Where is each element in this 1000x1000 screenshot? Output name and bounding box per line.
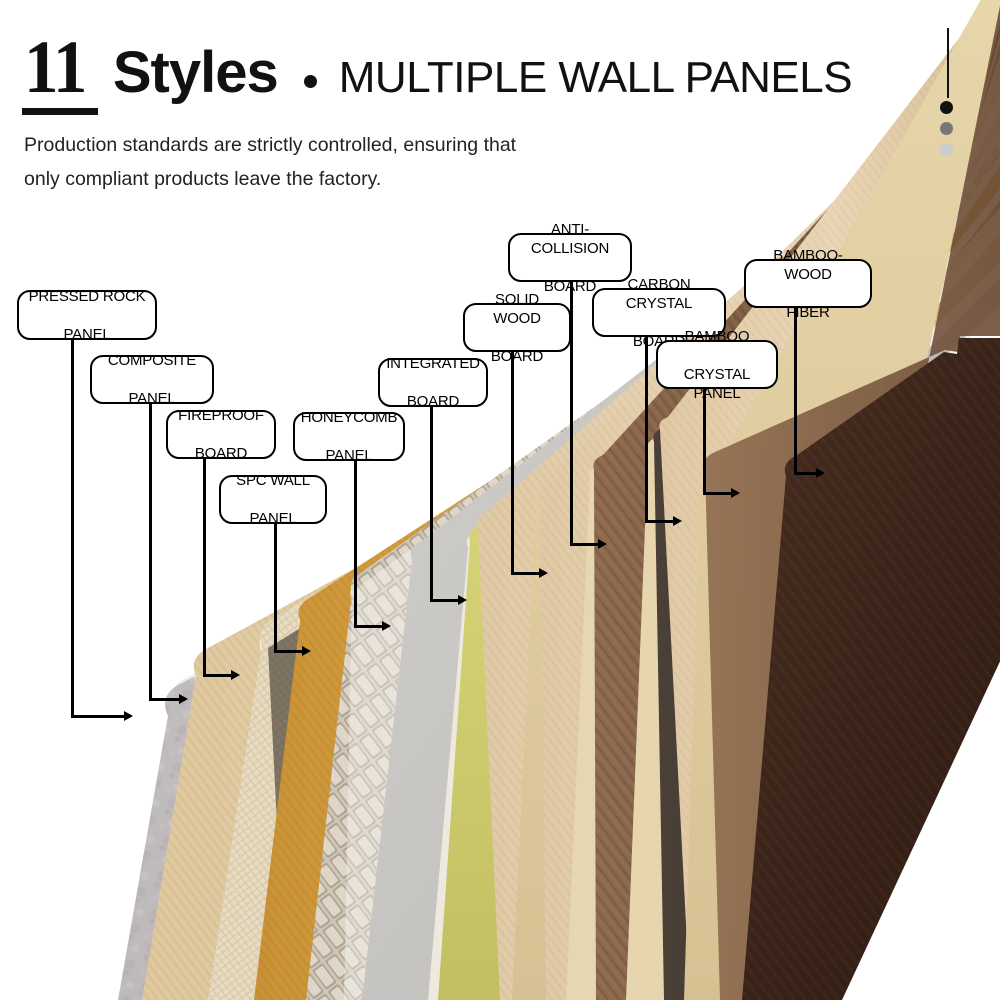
callout-bamboo-crystal-panel[interactable]: BAMBOO CRYSTAL PANEL <box>656 340 778 389</box>
callout-line-1: BAMBOO-WOOD <box>753 246 863 284</box>
leader-pressed-rock-panel-v <box>71 340 74 717</box>
callout-line-1: FIREPROOF <box>178 406 264 425</box>
leader-bamboo-crystal-panel-h <box>703 492 733 495</box>
arrow-bamboo-crystal-panel-icon <box>731 488 740 498</box>
callout-composite-panel[interactable]: COMPOSITE PANEL <box>90 355 214 404</box>
infographic-root: 11 Styles MULTIPLE WALL PANELS Productio… <box>0 0 1000 1000</box>
leader-solid-wood-board-v <box>511 352 514 574</box>
decor-dot-1-icon <box>940 101 953 114</box>
leader-honeycomb-panel-h <box>354 625 384 628</box>
leader-solid-wood-board-h <box>511 572 541 575</box>
style-count: 11 <box>24 36 86 100</box>
callout-line-1: COMPOSITE <box>108 351 196 370</box>
leader-bamboo-wood-fiber-h <box>794 472 818 475</box>
callout-line-2: BOARD <box>178 444 264 463</box>
leader-anti-collision-board-v <box>570 282 573 545</box>
leader-composite-panel-h <box>149 698 181 701</box>
style-word: Styles <box>113 41 278 105</box>
decor-vertical-rule <box>947 28 949 98</box>
decor-dot-2-icon <box>940 122 953 135</box>
leader-carbon-crystal-board-v <box>645 337 648 522</box>
leader-spc-wall-panel-v <box>274 524 277 652</box>
leader-pressed-rock-panel-h <box>71 715 126 718</box>
headline: MULTIPLE WALL PANELS <box>339 46 852 110</box>
callout-line-1: ANTI-COLLISION <box>517 220 623 258</box>
arrow-honeycomb-panel-icon <box>382 621 391 631</box>
callout-line-2: BOARD <box>386 392 480 411</box>
description-line-2: only compliant products leave the factor… <box>24 162 664 196</box>
arrow-integrated-board-icon <box>458 595 467 605</box>
description: Production standards are strictly contro… <box>24 128 664 196</box>
leader-bamboo-wood-fiber-v <box>794 308 797 474</box>
callout-line-2: PANEL <box>29 325 146 344</box>
callout-line-1: HONEYCOMB <box>301 408 398 427</box>
leader-bamboo-crystal-panel-v <box>703 389 706 494</box>
callout-solid-wood-board[interactable]: SOLID WOOD BOARD <box>463 303 571 352</box>
callout-line-1: BAMBOO <box>665 327 769 346</box>
decor-dot-3-icon <box>940 143 953 156</box>
callout-line-2: BOARD <box>472 347 562 366</box>
callout-line-2: CRYSTAL PANEL <box>665 365 769 403</box>
callout-line-2: PANEL <box>236 509 310 528</box>
callout-line-1: CARBON CRYSTAL <box>601 275 717 313</box>
arrow-bamboo-wood-fiber-icon <box>816 468 825 478</box>
callout-bamboo-wood-fiber[interactable]: BAMBOO-WOOD FIBER <box>744 259 872 308</box>
leader-honeycomb-panel-v <box>354 461 357 627</box>
description-line-1: Production standards are strictly contro… <box>24 128 664 162</box>
arrow-pressed-rock-panel-icon <box>124 711 133 721</box>
leader-fireproof-board-h <box>203 674 233 677</box>
leader-integrated-board-h <box>430 599 460 602</box>
callout-line-2: FIBER <box>753 303 863 322</box>
arrow-composite-panel-icon <box>179 694 188 704</box>
title-underline <box>22 108 98 115</box>
callout-line-1: PRESSED ROCK <box>29 287 146 306</box>
callout-line-1: SPC WALL <box>236 471 310 490</box>
header: 11 Styles MULTIPLE WALL PANELS Productio… <box>0 0 1000 210</box>
callout-honeycomb-panel[interactable]: HONEYCOMB PANEL <box>293 412 405 461</box>
callout-line-1: INTEGRATED <box>386 354 480 373</box>
arrow-fireproof-board-icon <box>231 670 240 680</box>
title-row: 11 Styles MULTIPLE WALL PANELS <box>24 36 852 110</box>
leader-integrated-board-v <box>430 407 433 601</box>
leader-carbon-crystal-board-h <box>645 520 675 523</box>
arrow-carbon-crystal-board-icon <box>673 516 682 526</box>
callout-pressed-rock-panel[interactable]: PRESSED ROCK PANEL <box>17 290 157 340</box>
callout-spc-wall-panel[interactable]: SPC WALL PANEL <box>219 475 327 524</box>
arrow-spc-wall-panel-icon <box>302 646 311 656</box>
arrow-solid-wood-board-icon <box>539 568 548 578</box>
callout-fireproof-board[interactable]: FIREPROOF BOARD <box>166 410 276 459</box>
dot-separator-icon <box>304 75 317 88</box>
arrow-anti-collision-board-icon <box>598 539 607 549</box>
leader-fireproof-board-v <box>203 459 206 676</box>
leader-spc-wall-panel-h <box>274 650 304 653</box>
leader-anti-collision-board-h <box>570 543 600 546</box>
callout-line-2: PANEL <box>301 446 398 465</box>
leader-composite-panel-v <box>149 404 152 700</box>
